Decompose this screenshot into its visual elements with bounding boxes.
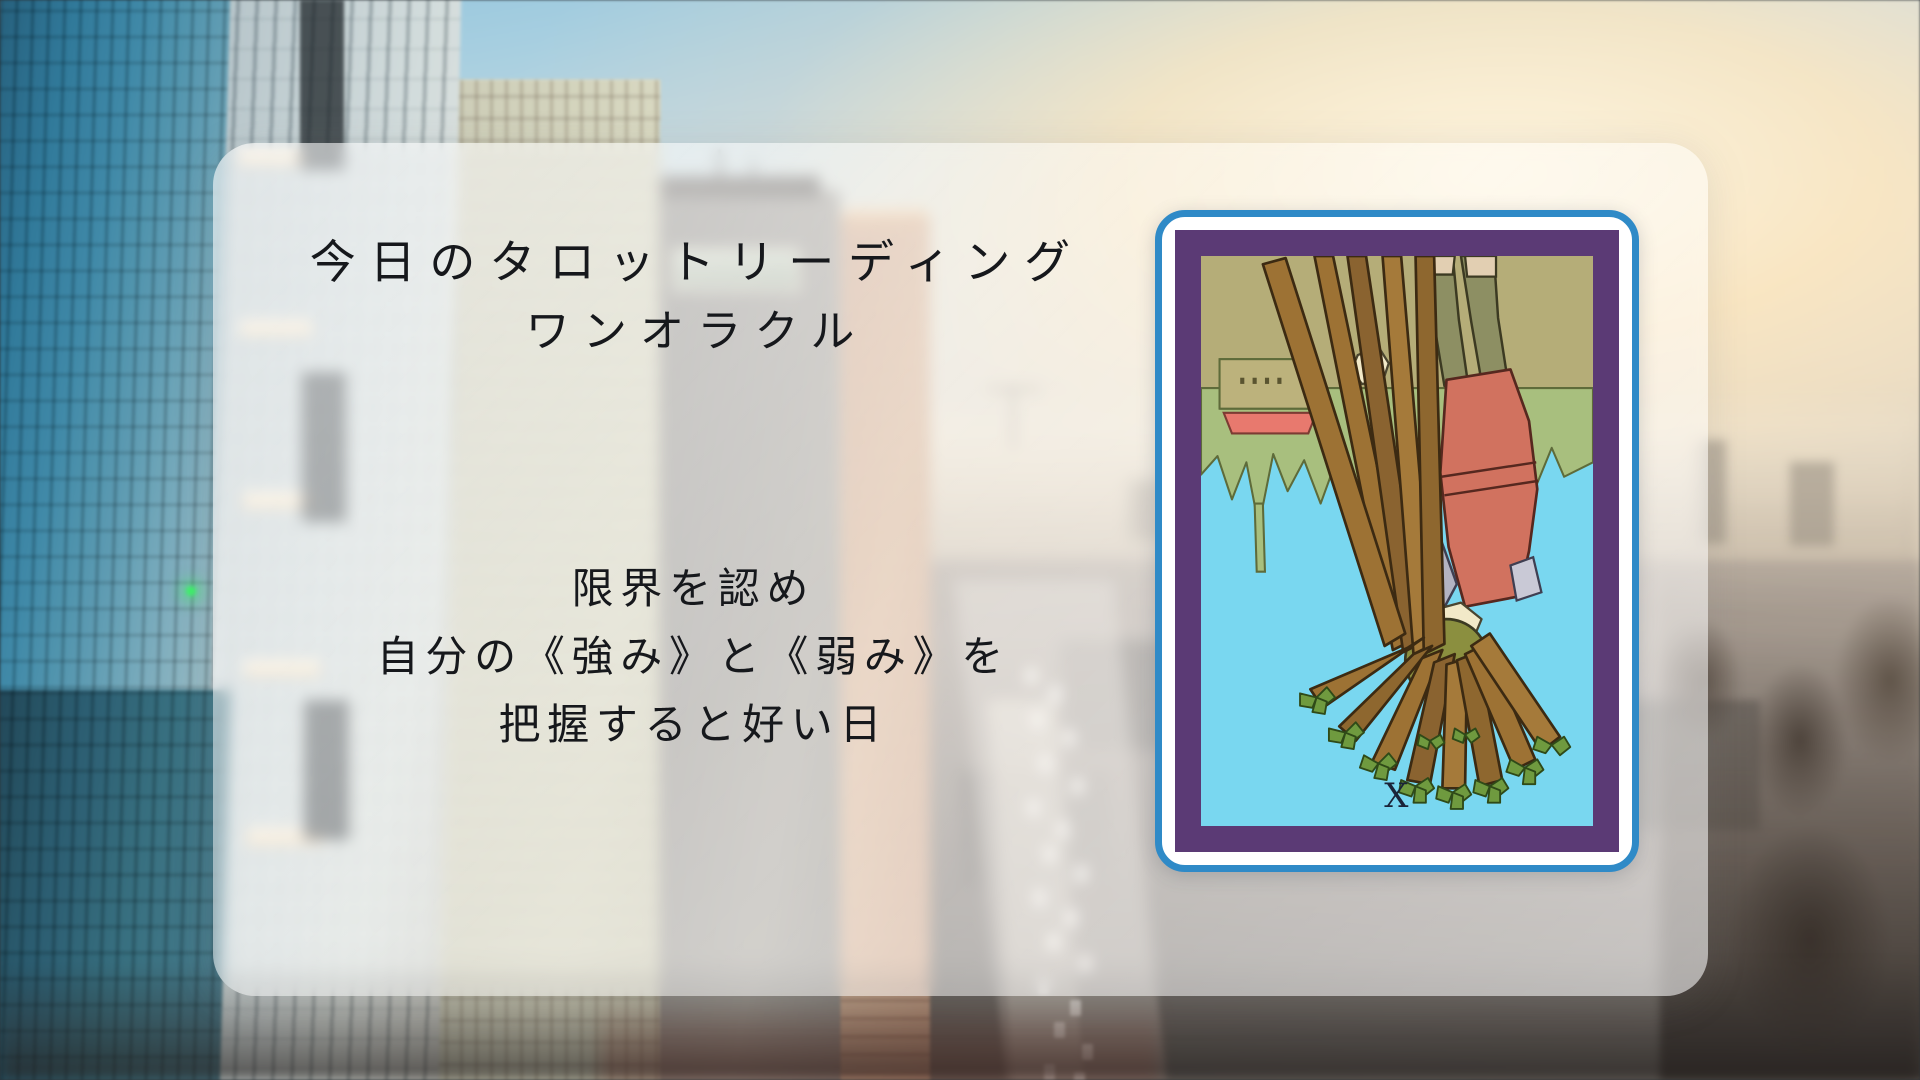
green-light-flare <box>186 586 196 596</box>
page-subtitle: ワンオラクル <box>250 301 1130 363</box>
far-building <box>1790 462 1834 546</box>
page-title: 今日のタロットリーディング <box>250 230 1130 295</box>
blue-glass-tower <box>0 0 231 740</box>
tarot-card[interactable]: X <box>1155 210 1639 872</box>
card-roman-numeral: X <box>1201 776 1593 816</box>
message-line-3: 把握すると好い日 <box>250 691 1130 759</box>
tarot-card-frame: X <box>1175 230 1619 852</box>
message-line-1: 限界を認め <box>250 555 1130 623</box>
ten-of-wands-reversed-illustration <box>1201 256 1593 834</box>
message-block: 限界を認め 自分の《強み》と《弱み》を 把握すると好い日 <box>250 555 1130 759</box>
heading-block: 今日のタロットリーディング ワンオラクル <box>250 230 1130 363</box>
message-line-2: 自分の《強み》と《弱み》を <box>250 623 1130 691</box>
